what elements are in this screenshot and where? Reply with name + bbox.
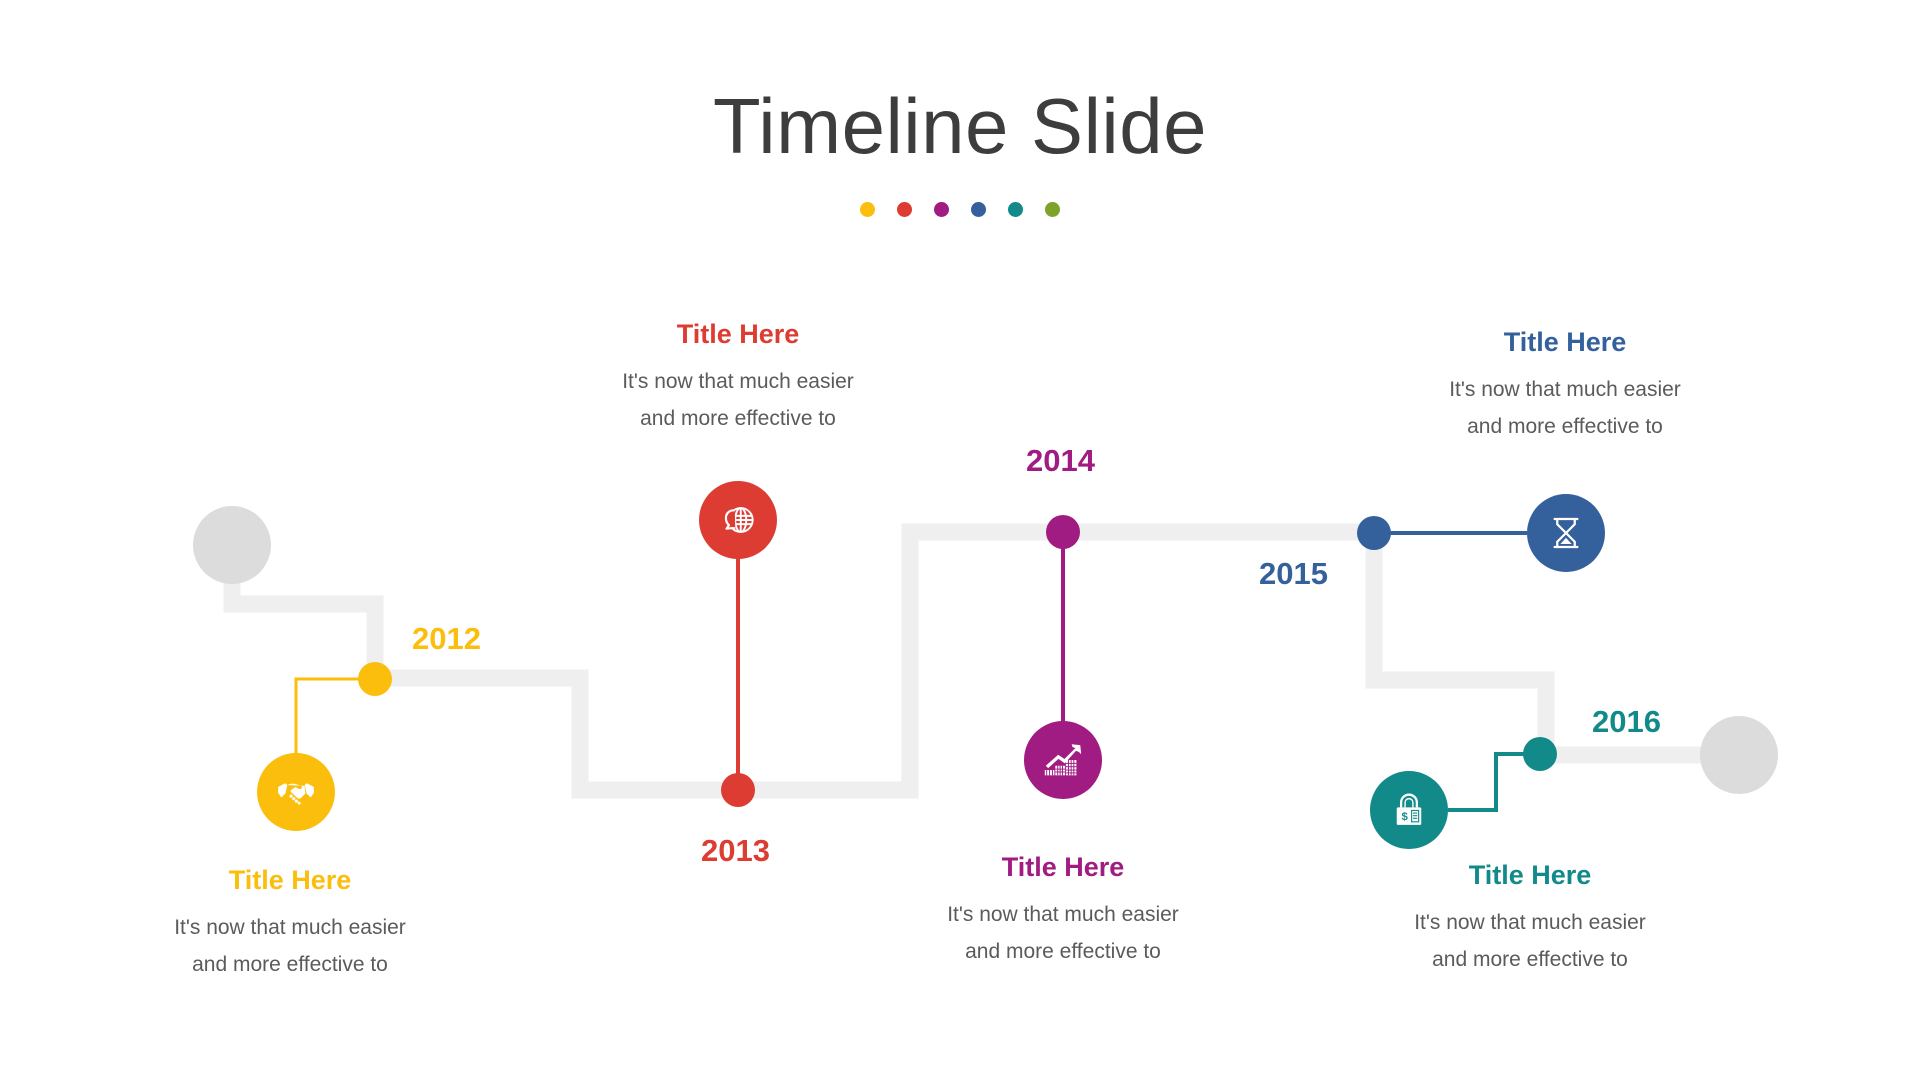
milestone-title-2016: Title Here: [1375, 859, 1685, 891]
milestone-body-line2-2014: and more effective to: [908, 934, 1218, 970]
year-label-2013: 2013: [701, 833, 770, 869]
milestone-text-2013: Title Here It's now that much easier and…: [583, 318, 893, 437]
milestone-title-2015: Title Here: [1410, 326, 1720, 358]
milestone-body-line2-2015: and more effective to: [1410, 409, 1720, 445]
year-label-2014: 2014: [1026, 443, 1095, 479]
page-title: Timeline Slide: [0, 86, 1920, 168]
year-label-2012: 2012: [412, 621, 481, 657]
milestone-icon-2013[interactable]: [699, 481, 777, 559]
milestone-title-2012: Title Here: [135, 864, 445, 896]
milestone-text-2012: Title Here It's now that much easier and…: [135, 864, 445, 983]
header-dot-teal: [1008, 202, 1023, 217]
header-dot-magenta: [934, 202, 949, 217]
milestone-icon-2014[interactable]: [1024, 721, 1102, 799]
milestone-text-2014: Title Here It's now that much easier and…: [908, 851, 1218, 970]
year-label-2015: 2015: [1259, 556, 1328, 592]
header-dot-red: [897, 202, 912, 217]
timeline-end-cap: [1700, 716, 1778, 794]
milestone-body-line1-2016: It's now that much easier: [1375, 905, 1685, 941]
header-dot-yellow: [860, 202, 875, 217]
handshake-icon: [274, 770, 318, 814]
svg-text:$: $: [1401, 811, 1408, 823]
milestone-body-line1-2015: It's now that much easier: [1410, 372, 1720, 408]
hourglass-icon: [1545, 512, 1587, 554]
track-dot-2013[interactable]: [721, 773, 755, 807]
milestone-body-line2-2016: and more effective to: [1375, 942, 1685, 978]
money-lock-icon: $: [1388, 789, 1430, 831]
timeline-slide: Timeline Slide: [0, 0, 1920, 1080]
header-dot-row: [0, 202, 1920, 217]
milestone-text-2015: Title Here It's now that much easier and…: [1410, 326, 1720, 445]
track-dot-2014[interactable]: [1046, 515, 1080, 549]
header-dot-olive: [1045, 202, 1060, 217]
timeline-start-cap: [193, 506, 271, 584]
growth-chart-icon: [1040, 737, 1086, 783]
milestone-icon-2016[interactable]: $: [1370, 771, 1448, 849]
milestone-body-line2-2013: and more effective to: [583, 401, 893, 437]
milestone-title-2014: Title Here: [908, 851, 1218, 883]
milestone-icon-2015[interactable]: [1527, 494, 1605, 572]
milestone-icon-2012[interactable]: [257, 753, 335, 831]
milestone-title-2013: Title Here: [583, 318, 893, 350]
milestone-body-line2-2012: and more effective to: [135, 947, 445, 983]
globe-phone-icon: [716, 498, 760, 542]
slide-header: Timeline Slide: [0, 86, 1920, 217]
milestone-body-line1-2014: It's now that much easier: [908, 897, 1218, 933]
track-dot-2012[interactable]: [358, 662, 392, 696]
year-label-2016: 2016: [1592, 704, 1661, 740]
timeline-main-track: [232, 532, 1740, 790]
header-dot-blue: [971, 202, 986, 217]
milestone-body-line1-2013: It's now that much easier: [583, 364, 893, 400]
track-dot-2015[interactable]: [1357, 516, 1391, 550]
milestone-text-2016: Title Here It's now that much easier and…: [1375, 859, 1685, 978]
track-dot-2016[interactable]: [1523, 737, 1557, 771]
milestone-body-line1-2012: It's now that much easier: [135, 910, 445, 946]
